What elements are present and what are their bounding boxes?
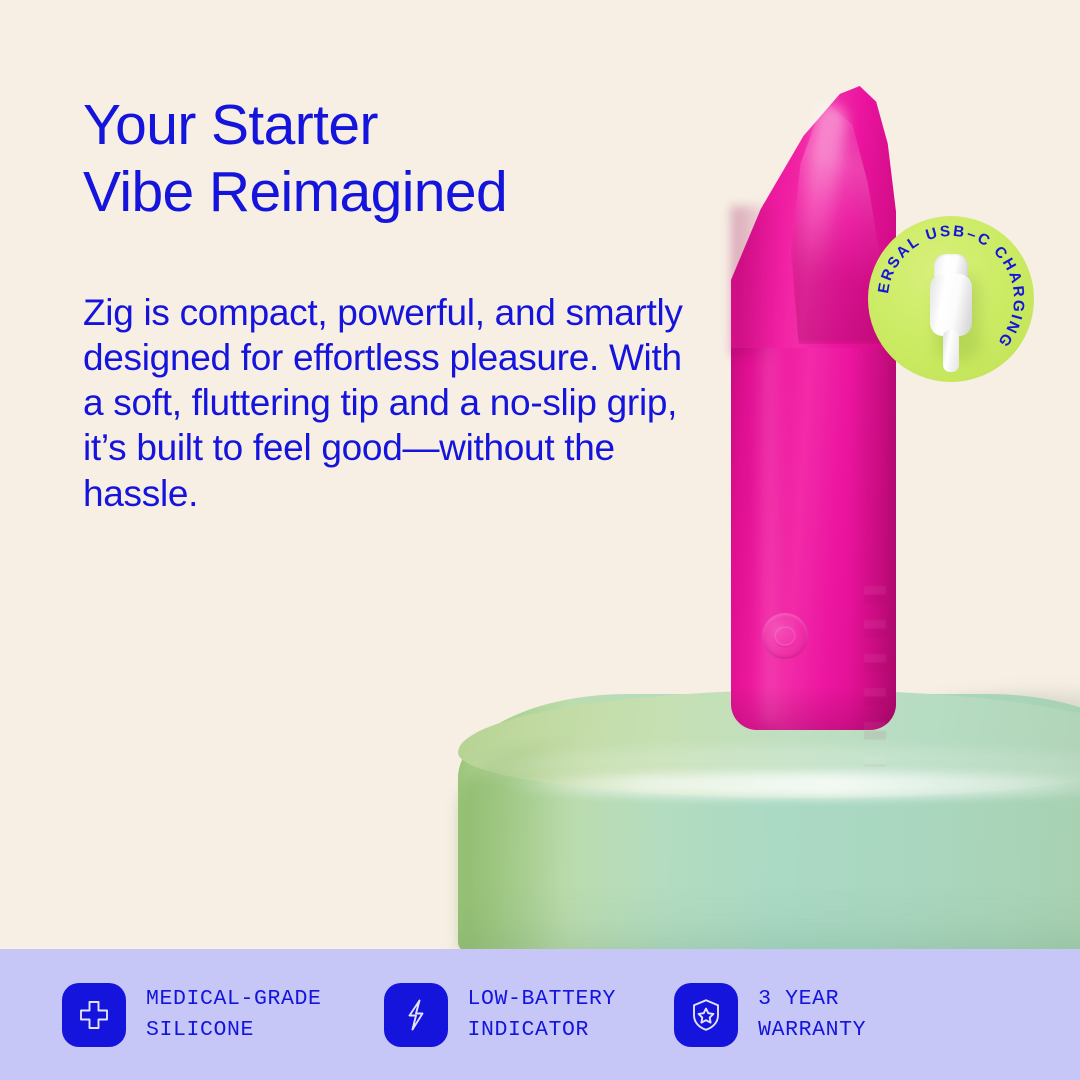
product-embossed-lettering [864, 586, 886, 766]
product-body-highlight [757, 338, 783, 724]
feature-label: MEDICAL-GRADE SILICONE [146, 984, 322, 1045]
product-marketing-card: UNIVERSAL USB–C CHARGING Your Starter Vi… [0, 0, 1080, 1080]
usb-c-body [930, 274, 972, 336]
medical-cross-icon [62, 983, 126, 1047]
shield-star-icon [674, 983, 738, 1047]
medical-cross-glyph [76, 997, 112, 1033]
product-tip-shading [731, 206, 779, 356]
feature-label: LOW-BATTERY INDICATOR [468, 984, 617, 1045]
usb-c-cable [943, 330, 959, 372]
zig-vibrator-product [731, 86, 896, 730]
feature-label: 3 YEAR WARRANTY [758, 984, 866, 1045]
shield-star-glyph [688, 997, 724, 1033]
lightning-bolt-icon [384, 983, 448, 1047]
power-button-glyph [774, 626, 796, 646]
feature-item-low-battery-indicator: LOW-BATTERY INDICATOR [384, 983, 617, 1047]
product-description: Zig is compact, powerful, and smartly de… [83, 290, 683, 516]
usb-c-charging-badge: UNIVERSAL USB–C CHARGING [868, 216, 1034, 382]
lightning-bolt-glyph [398, 997, 434, 1033]
usb-c-connector-icon [930, 254, 972, 372]
feature-bar: MEDICAL-GRADE SILICONE LOW-BATTERY INDIC… [0, 949, 1080, 1080]
feature-item-medical-grade-silicone: MEDICAL-GRADE SILICONE [62, 983, 322, 1047]
page-title: Your Starter Vibe Reimagined [83, 92, 723, 225]
feature-item-3-year-warranty: 3 YEAR WARRANTY [674, 983, 866, 1047]
power-button-emboss [762, 613, 808, 659]
